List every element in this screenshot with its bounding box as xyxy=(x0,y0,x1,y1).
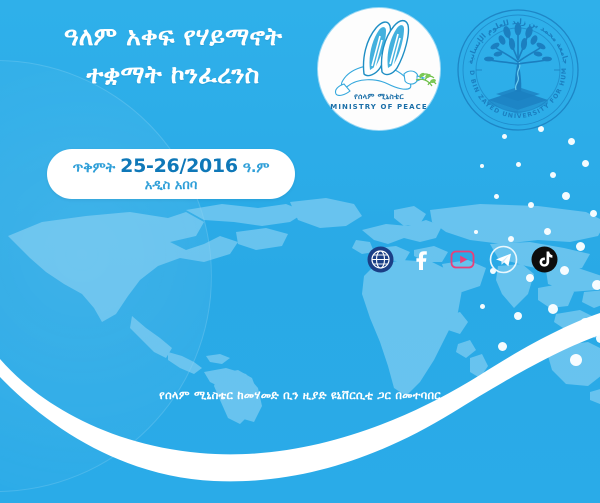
facebook-icon[interactable] xyxy=(407,245,436,274)
date-row: ጥቅምት 25-26/2016 ዓ.ም xyxy=(73,155,270,177)
date-month: ጥቅምት xyxy=(73,160,116,176)
website-icon[interactable] xyxy=(366,245,395,274)
social-links-row xyxy=(366,245,559,274)
wave-decoration xyxy=(0,313,600,503)
date-era: ዓ.ም xyxy=(243,160,270,176)
date-location-pill: ጥቅምት 25-26/2016 ዓ.ም አዲስ አበባ xyxy=(47,149,295,199)
ministry-logo-amharic-text: የሰላም ሚኒስቴር xyxy=(318,92,440,102)
youtube-icon[interactable] xyxy=(448,245,477,274)
date-days: 25-26/2016 xyxy=(120,155,238,177)
page-title: ዓለም አቀፍ የሃይማኖት ተቋማት ኮንፈረንስ xyxy=(18,18,328,94)
university-logo: جامعة محمد بن زايد للعلوم الإنسانية MOHA… xyxy=(452,4,584,136)
ministry-of-peace-logo: የሰላም ሚኒስቴር MINISTRY OF PEACE xyxy=(318,8,440,130)
event-city: አዲስ አበባ xyxy=(145,178,198,193)
title-line-2: ተቋማት ኮንፈረንስ xyxy=(18,56,328,94)
ministry-logo-english-text: MINISTRY OF PEACE xyxy=(318,103,440,111)
title-line-1: ዓለም አቀፍ የሃይማኖት xyxy=(18,18,328,56)
partnership-caption: የሰላም ሚኒስቴር ከመሃመድ ቢን ዚያድ ዩኒቨርሲቲ ጋር በመተባበር xyxy=(0,388,600,403)
conference-poster: ዓለም አቀፍ የሃይማኖት ተቋማት ኮንፈረንስ xyxy=(0,0,600,503)
telegram-icon[interactable] xyxy=(489,245,518,274)
tiktok-icon[interactable] xyxy=(530,245,559,274)
